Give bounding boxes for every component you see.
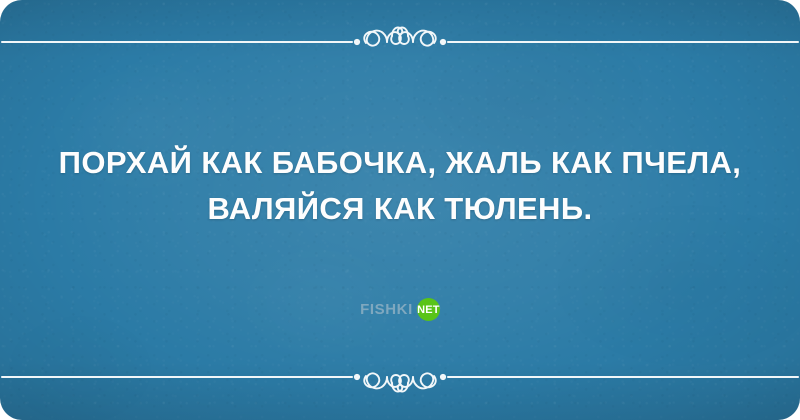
quote-text: ПОРХАЙ КАК БАБОЧКА, ЖАЛЬ КАК ПЧЕЛА, ВАЛЯ… xyxy=(0,140,800,232)
quote-line-1: ПОРХАЙ КАК БАБОЧКА, ЖАЛЬ КАК ПЧЕЛА, xyxy=(0,140,800,186)
scroll-flourish-icon xyxy=(364,373,435,391)
divider-dot-right xyxy=(440,374,446,380)
divider-dot-left xyxy=(354,39,360,45)
scroll-flourish-icon xyxy=(364,27,435,45)
fishki-net-watermark: FISHKI NET xyxy=(0,298,800,321)
watermark-badge-label: NET xyxy=(417,304,440,316)
watermark-badge: NET xyxy=(417,298,440,321)
top-divider xyxy=(0,24,800,60)
flourish-divider-icon xyxy=(0,359,800,395)
quote-line-2: ВАЛЯЙСЯ КАК ТЮЛЕНЬ. xyxy=(0,186,800,232)
bottom-divider xyxy=(0,359,800,395)
divider-dot-left xyxy=(354,374,360,380)
watermark-wordmark: FISHKI xyxy=(360,301,413,318)
flourish-divider-icon xyxy=(0,24,800,60)
quote-card: ПОРХАЙ КАК БАБОЧКА, ЖАЛЬ КАК ПЧЕЛА, ВАЛЯ… xyxy=(0,0,800,420)
divider-dot-right xyxy=(440,39,446,45)
